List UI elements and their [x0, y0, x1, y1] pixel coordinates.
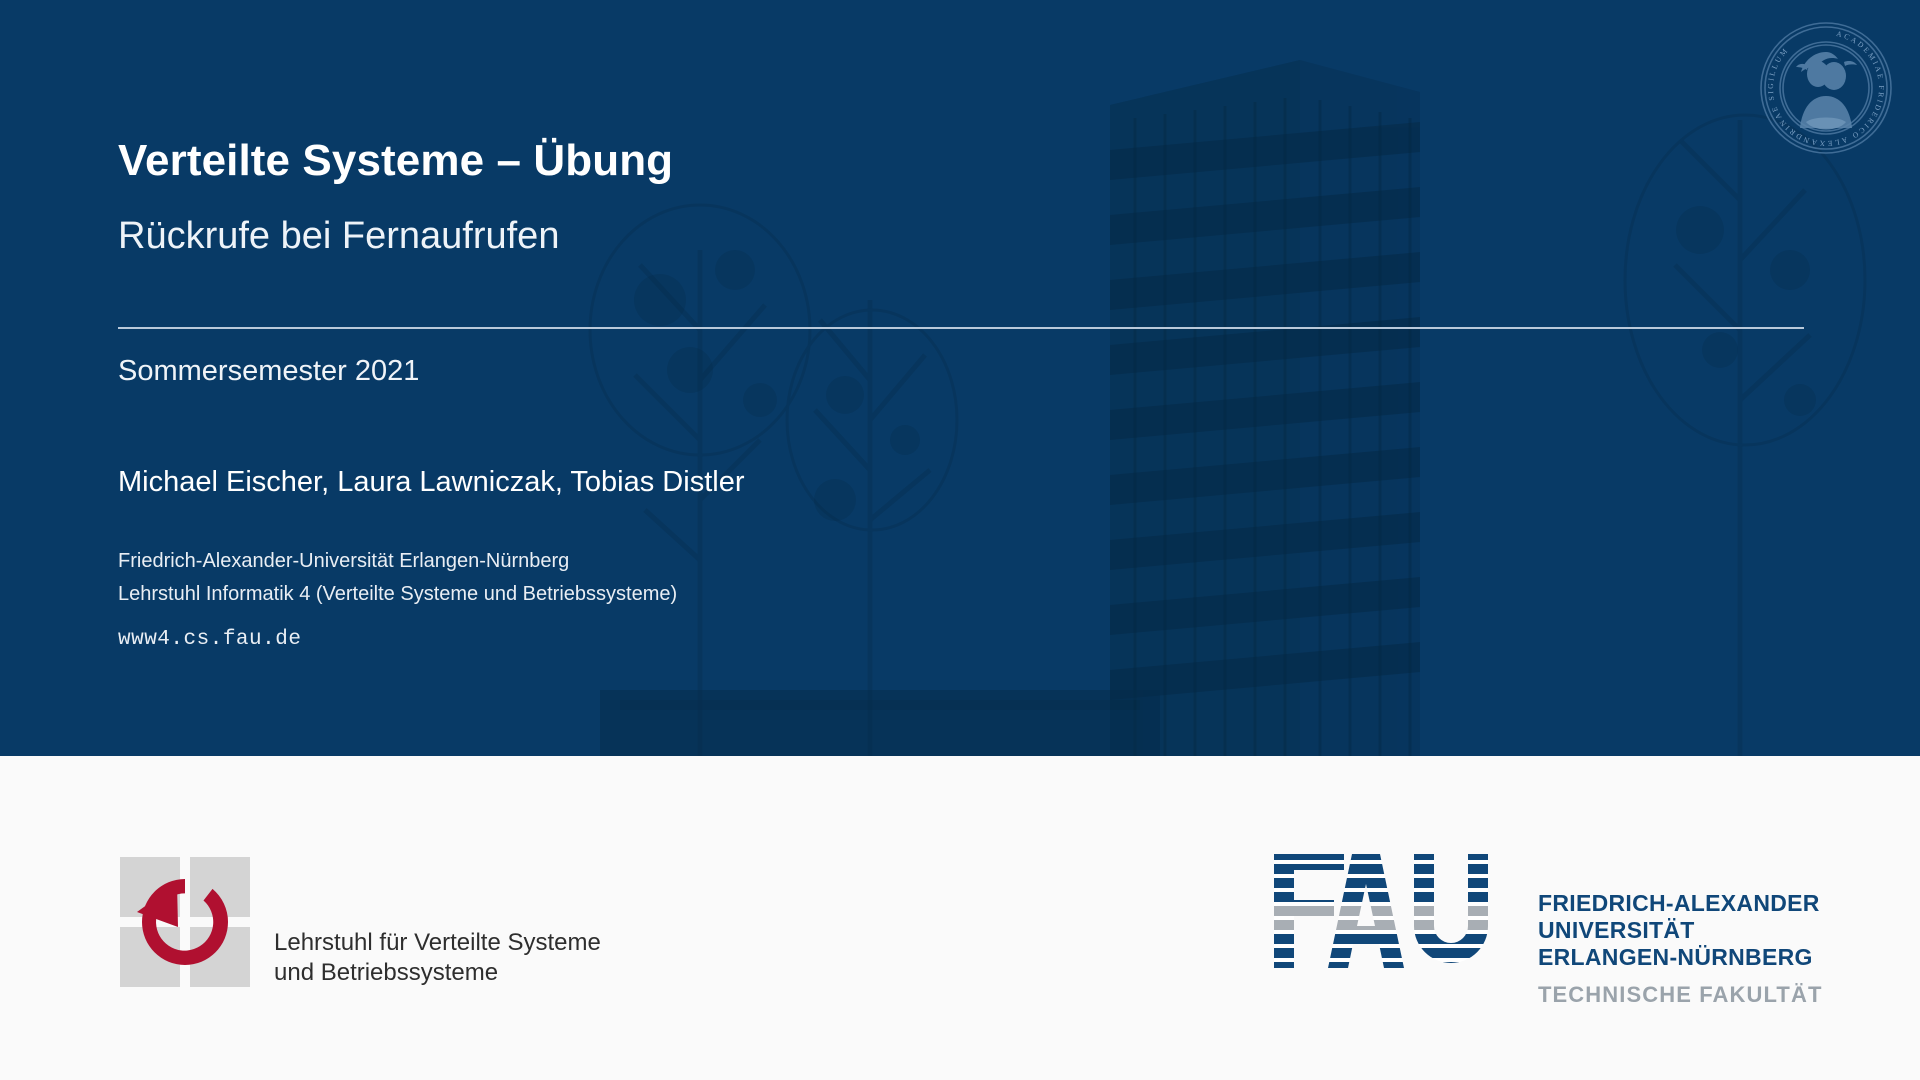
page-title: Verteilte Systeme – Übung — [118, 136, 673, 186]
website-url[interactable]: www4.cs.fau.de — [118, 628, 301, 651]
authors-label: Michael Eischer, Laura Lawniczak, Tobias… — [118, 466, 744, 499]
affiliation-line-2: Lehrstuhl Informatik 4 (Verteilte System… — [118, 583, 677, 606]
chair-logo-text: Lehrstuhl für Verteilte Systeme und Betr… — [274, 928, 601, 988]
fau-striped-wordmark-icon — [1268, 848, 1498, 974]
fau-wordmark-line-2: UNIVERSITÄT — [1538, 917, 1878, 944]
chair-logo-line-2: und Betriebssysteme — [274, 958, 601, 988]
title-slide-hero: ACADEMIAE FRIDERICO ALEXANDRINAE SIGILLU… — [0, 0, 1920, 756]
page-subtitle: Rückrufe bei Fernaufrufen — [118, 215, 559, 258]
circular-arrow-icon — [120, 857, 250, 987]
affiliation-line-1: Friedrich-Alexander-Universität Erlangen… — [118, 550, 569, 573]
fau-wordmark-text: FRIEDRICH-ALEXANDER UNIVERSITÄT ERLANGEN… — [1538, 890, 1878, 971]
semester-label: Sommersemester 2021 — [118, 355, 419, 388]
fau-faculty-label: TECHNISCHE FAKULTÄT — [1538, 982, 1822, 1008]
chair-logo-line-1: Lehrstuhl für Verteilte Systeme — [274, 928, 601, 958]
fau-wordmark-line-1: FRIEDRICH-ALEXANDER — [1538, 890, 1878, 917]
hero-text-block: Verteilte Systeme – Übung Rückrufe bei F… — [118, 0, 1838, 756]
fau-wordmark-line-3: ERLANGEN-NÜRNBERG — [1538, 944, 1878, 971]
title-divider — [118, 327, 1804, 329]
